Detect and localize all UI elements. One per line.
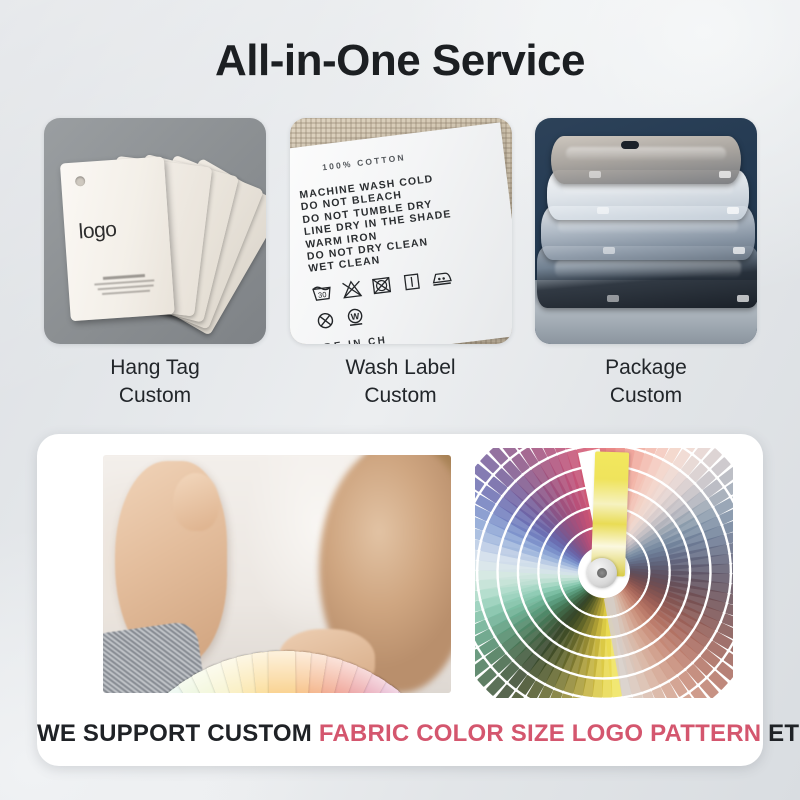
custom-options-card: WE SUPPORT CUSTOM FABRIC COLOR SIZE LOGO… [37,434,763,766]
do-not-bleach-icon [340,278,363,299]
wash-label-care-text: MACHINE WASH COLD DO NOT BLEACH DO NOT T… [298,167,495,276]
support-statement: WE SUPPORT CUSTOM FABRIC COLOR SIZE LOGO… [37,720,763,748]
caption-hang-tag: Hang Tag Custom [44,354,266,410]
caption-package: Package Custom [535,354,757,410]
wash-label-fiber-text: 100% COTTON [321,143,483,173]
poster-root: All-in-One Service logo [0,0,800,800]
hang-tag-stack: logo [44,118,266,344]
wash-label-tag: 100% COTTON MACHINE WASH COLD DO NOT BLE… [290,122,512,344]
wash-30-icon: 30 [310,282,333,303]
hang-tag-hole-icon [75,176,86,187]
color-fan-deck-photo [103,455,451,693]
wash-label-origin-text: MADE IN CH [303,335,387,344]
do-not-tumble-dry-icon [369,275,392,296]
support-highlight-text: FABRIC COLOR SIZE LOGO PATTERN [319,720,761,747]
wet-clean-w-icon: W [343,306,366,327]
svg-text:W: W [350,311,360,322]
wheel-swatch [475,570,476,580]
do-not-dry-clean-icon [313,310,336,331]
service-panels: logo 100% COTTON MACHINE WASH COLD DO NO… [44,118,757,344]
color-wheel-fan-photo [475,448,733,698]
wheel-swatch [731,552,733,564]
page-title: All-in-One Service [0,36,800,86]
hang-tag-card-front: logo [60,156,175,321]
line-dry-icon [399,271,422,292]
hang-tag-photo: logo [44,118,266,344]
caption-wash-label: Wash Label Custom [290,354,512,410]
iron-two-dots-icon [429,267,452,288]
wheel-swatch [478,570,496,580]
wheel-swatch [602,679,612,697]
wash-label-photo: 100% COTTON MACHINE WASH COLD DO NOT BLE… [290,118,512,344]
fan-swatch [268,651,298,693]
svg-text:30: 30 [317,290,326,300]
poly-bag-top [551,136,741,184]
fan-pivot-icon [587,558,617,588]
service-captions: Hang Tag Custom Wash Label Custom Packag… [44,354,757,410]
hang-tag-logo-text: logo [78,218,117,245]
support-prefix-text: WE SUPPORT CUSTOM [37,720,319,747]
wheel-swatch [732,563,733,573]
package-photo [535,118,757,344]
wash-label-symbol-row: 30 [310,264,484,331]
wheel-swatch [475,559,476,570]
hang-tag-fine-print [94,273,157,298]
support-suffix-text: ETC. [761,720,800,747]
